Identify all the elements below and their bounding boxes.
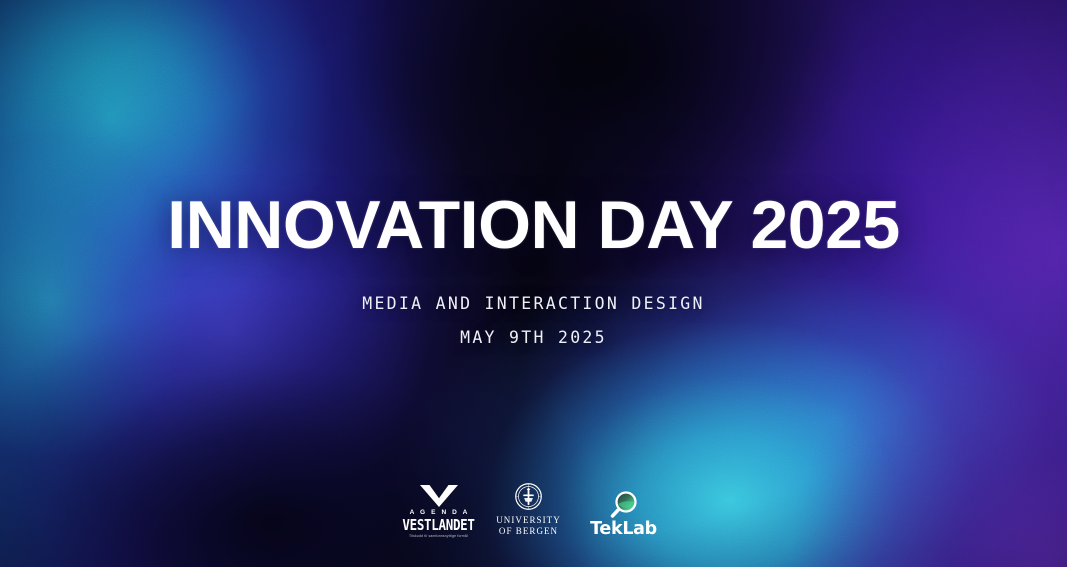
magnifier-icon bbox=[609, 490, 639, 520]
uib-crest-icon bbox=[515, 483, 542, 510]
innovation-day-poster: INNOVATION DAY 2025 MEDIA AND INTERACTIO… bbox=[0, 0, 1067, 567]
logo-university-of-bergen: UNIVERSITY OF BERGEN bbox=[497, 482, 561, 538]
page-title: INNOVATION DAY 2025 bbox=[0, 191, 1067, 259]
poster-subtitle: MEDIA AND INTERACTION DESIGN bbox=[0, 294, 1067, 313]
agenda-tagline: Tilskudd til samfunnsnyttige formål bbox=[409, 535, 468, 538]
logo-teklab: TekLab bbox=[587, 482, 661, 538]
logo-agenda-vestlandet: A G E N D A VESTLANDET Tilskudd til samf… bbox=[407, 482, 471, 538]
uib-line-2: OF BERGEN bbox=[499, 526, 558, 538]
chevron-mark-icon bbox=[420, 485, 458, 507]
sponsor-logo-row: A G E N D A VESTLANDET Tilskudd til samf… bbox=[0, 478, 1067, 538]
teklab-wordmark: TekLab bbox=[590, 521, 657, 539]
uib-line-1: UNIVERSITY bbox=[496, 515, 561, 527]
poster-date: MAY 9TH 2025 bbox=[0, 328, 1067, 347]
poster-content: INNOVATION DAY 2025 MEDIA AND INTERACTIO… bbox=[0, 0, 1067, 567]
agenda-wordmark: VESTLANDET bbox=[402, 517, 474, 532]
